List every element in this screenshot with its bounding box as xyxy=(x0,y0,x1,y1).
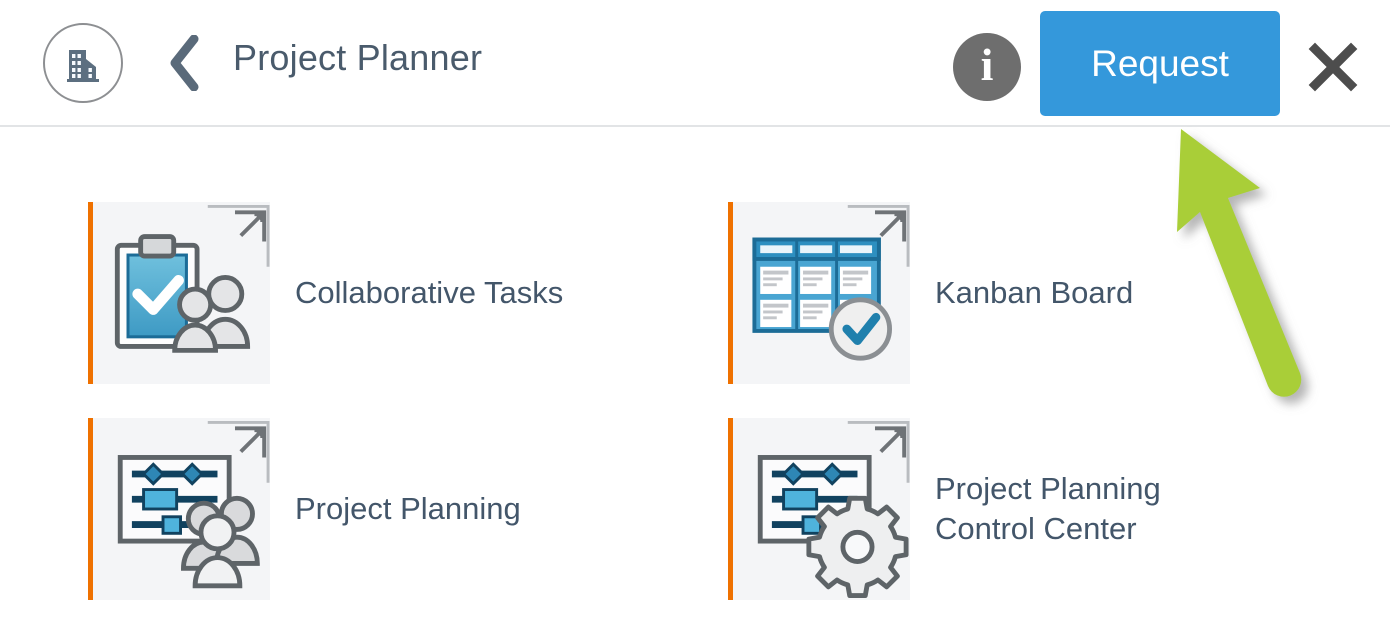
list-item-label: Kanban Board xyxy=(935,273,1133,313)
list-item[interactable]: Kanban Board xyxy=(728,202,1133,384)
close-icon[interactable] xyxy=(1303,37,1363,97)
request-button[interactable]: Request xyxy=(1040,11,1280,116)
clipboard-check-people-icon xyxy=(93,202,270,384)
app-tile-grid: Collaborative Tasks xyxy=(0,129,1390,634)
tile-thumbnail xyxy=(88,202,270,384)
list-item-label: Project Planning Control Center xyxy=(935,469,1265,548)
info-glyph: i xyxy=(981,42,994,88)
kanban-board-check-icon xyxy=(733,202,910,384)
list-item-label: Project Planning xyxy=(295,489,521,529)
tile-thumbnail xyxy=(728,202,910,384)
office-building-icon[interactable] xyxy=(43,23,123,103)
list-item[interactable]: Project Planning xyxy=(88,418,521,600)
list-item[interactable]: Collaborative Tasks xyxy=(88,202,563,384)
gantt-chart-gear-icon xyxy=(733,418,910,600)
app-header: Project Planner i Request xyxy=(0,0,1390,127)
info-icon[interactable]: i xyxy=(953,33,1021,101)
tile-thumbnail xyxy=(88,418,270,600)
back-chevron-icon[interactable] xyxy=(160,26,208,100)
list-item-label: Collaborative Tasks xyxy=(295,273,563,313)
gantt-chart-people-icon xyxy=(93,418,270,600)
tile-thumbnail xyxy=(728,418,910,600)
page-title: Project Planner xyxy=(233,37,482,79)
list-item[interactable]: Project Planning Control Center xyxy=(728,418,1265,600)
